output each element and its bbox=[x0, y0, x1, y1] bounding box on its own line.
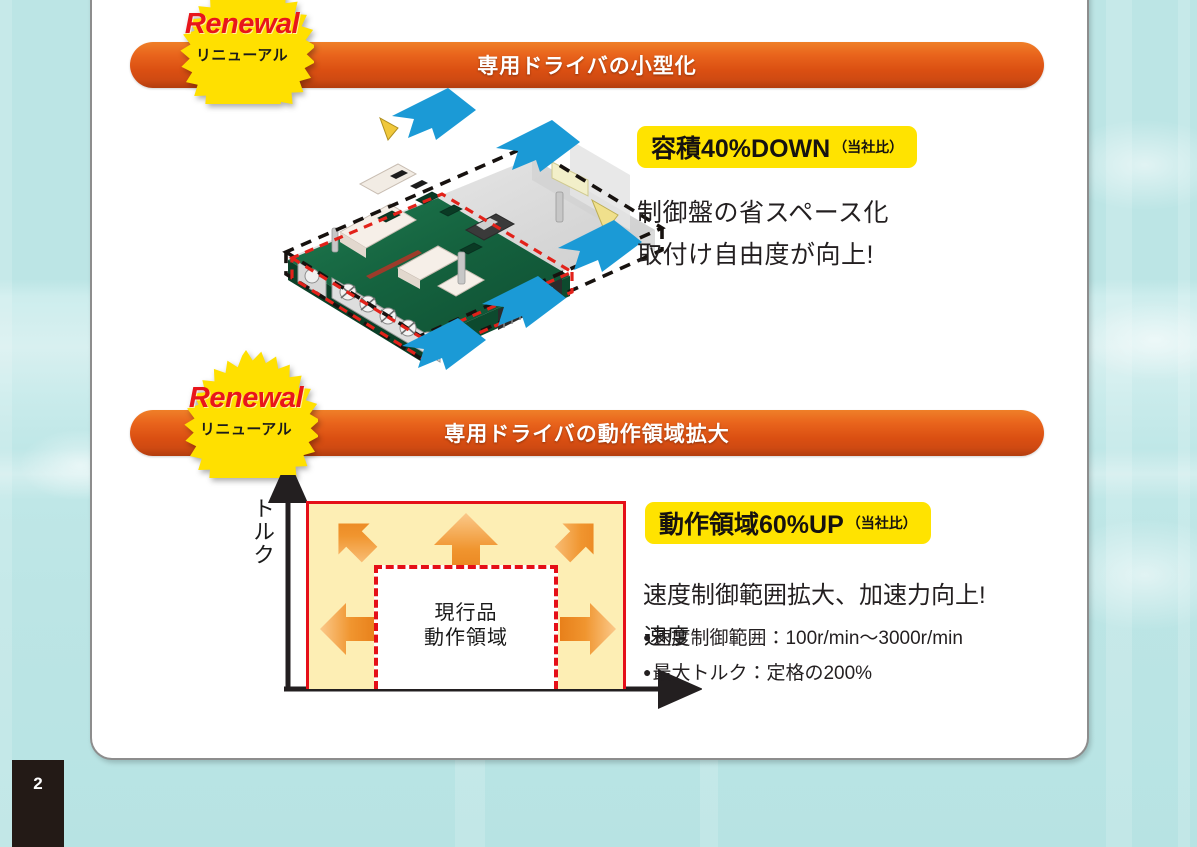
renewal-badge-2: Renewal リニューアル bbox=[174, 348, 318, 478]
body-text-line-1: 制御盤の省スペース化 bbox=[637, 193, 889, 229]
starburst-icon bbox=[174, 348, 318, 478]
bullet-item-2: ●最大トルク：定格の200% bbox=[643, 658, 872, 685]
section-title-1: 専用ドライバの小型化 bbox=[477, 50, 697, 80]
bullet-dot-icon: ● bbox=[643, 629, 651, 645]
bullet-dot-icon: ● bbox=[643, 664, 651, 680]
chart-region-current-label-2: 動作領域 bbox=[424, 626, 508, 651]
chart-region-current-label-1: 現行品 bbox=[435, 601, 498, 626]
expand-up-right-arrow bbox=[547, 508, 609, 570]
bullet-item-2-text: 最大トルク：定格の200% bbox=[652, 663, 872, 684]
lead-text-range: 速度制御範囲拡大、加速力向上! bbox=[643, 575, 986, 610]
body-text-line-2: 取付け自由度が向上! bbox=[637, 235, 874, 271]
chart-y-axis-label: トルク bbox=[246, 497, 278, 566]
highlight-sub-range: （当社比） bbox=[847, 513, 917, 533]
expand-up-left-arrow bbox=[323, 508, 385, 570]
slide-root: 専用ドライバの小型化 Renewal リニューアル bbox=[0, 0, 1197, 847]
chart-region-current: 現行品 動作領域 bbox=[374, 565, 558, 689]
driver-board-illustration bbox=[270, 80, 680, 378]
page-number-badge: 2 bbox=[12, 760, 64, 847]
content-card: 専用ドライバの小型化 Renewal リニューアル bbox=[90, 0, 1089, 760]
section-title-2: 専用ドライバの動作領域拡大 bbox=[444, 418, 730, 448]
bullet-item-1: ●速度制御範囲：100r/min〜3000r/min bbox=[643, 623, 963, 650]
highlight-main-range: 動作領域60%UP bbox=[659, 505, 844, 541]
bullet-item-1-text: 速度制御範囲：100r/min〜3000r/min bbox=[652, 628, 962, 649]
product-photo-driver bbox=[270, 80, 680, 378]
expand-right-arrow bbox=[560, 603, 616, 655]
highlight-sub-volume: （当社比） bbox=[833, 137, 903, 157]
highlight-main-volume: 容積40%DOWN bbox=[651, 129, 830, 165]
background-stripe bbox=[0, 0, 12, 847]
operating-range-chart: トルク 速度 bbox=[232, 475, 702, 710]
expand-left-arrow bbox=[320, 603, 376, 655]
highlight-box-range: 動作領域60%UP （当社比） bbox=[645, 502, 931, 544]
highlight-box-volume: 容積40%DOWN （当社比） bbox=[637, 126, 917, 168]
